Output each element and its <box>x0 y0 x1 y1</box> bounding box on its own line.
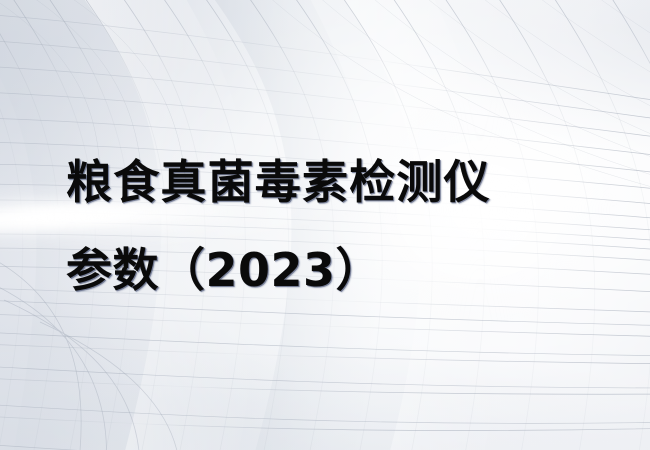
banner-title: 粮食真菌毒素检测仪 参数（2023） <box>66 138 626 314</box>
title-banner: 粮食真菌毒素检测仪 参数（2023） <box>0 0 650 450</box>
title-line-secondary: 参数（2023） <box>66 226 626 314</box>
title-line-primary: 粮食真菌毒素检测仪 <box>66 138 626 226</box>
